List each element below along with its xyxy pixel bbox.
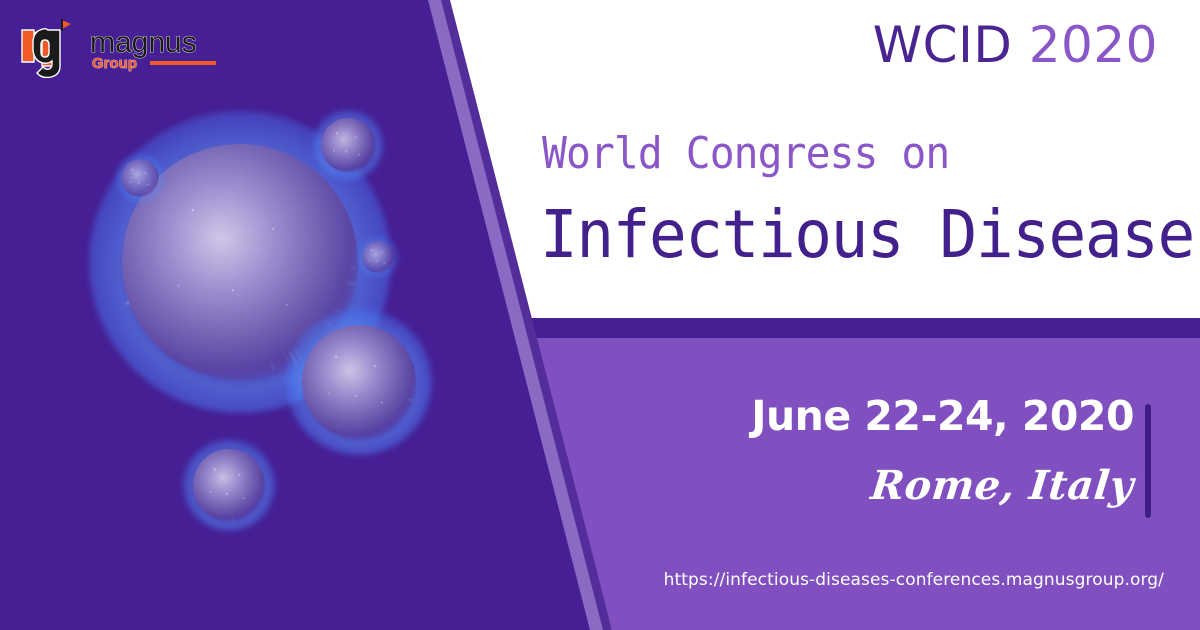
magnus-group-logo[interactable]: magnus Group bbox=[18, 14, 228, 78]
svg-text:Group: Group bbox=[92, 55, 137, 72]
event-venue: Rome, Italy bbox=[869, 462, 1137, 509]
virus-medium-icon bbox=[302, 325, 416, 439]
conference-banner: magnus Group WCID 2020 World Congress on… bbox=[0, 0, 1200, 630]
virus-tiny-top-icon bbox=[321, 118, 375, 172]
title-line-2: Infectious Diseases bbox=[540, 196, 1200, 273]
virus-tiny-right-icon bbox=[362, 241, 394, 273]
virus-small-low-icon bbox=[193, 449, 265, 521]
logo-wordmark: magnus Group bbox=[90, 26, 216, 72]
virus-particles-artwork bbox=[0, 0, 470, 630]
venue-accent-bar bbox=[1145, 404, 1151, 518]
event-dates: June 22-24, 2020 bbox=[751, 392, 1134, 440]
event-year: 2020 bbox=[1029, 16, 1158, 74]
title-line-1: World Congress on bbox=[542, 128, 949, 179]
logo-mark-icon bbox=[22, 19, 71, 78]
event-code-heading: WCID 2020 bbox=[873, 16, 1158, 74]
event-url[interactable]: https://infectious-diseases-conferences.… bbox=[664, 570, 1164, 590]
event-code: WCID bbox=[873, 16, 1013, 74]
virus-tiny-left-icon bbox=[121, 159, 159, 197]
